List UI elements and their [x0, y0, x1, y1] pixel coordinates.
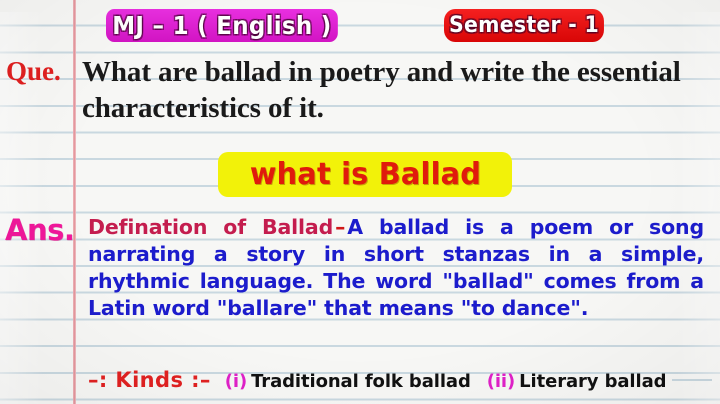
topic-title-text: what is Ballad — [249, 157, 480, 192]
answer-body: Defination of Ballad–A ballad is a poem … — [88, 214, 704, 322]
question-label: Que. — [6, 58, 61, 85]
answer-label: Ans. — [5, 216, 74, 245]
kinds-label: –: Kinds :– — [88, 368, 211, 392]
answer-term: Defination of Ballad — [88, 215, 333, 239]
topic-title-highlight: what is Ballad — [218, 152, 512, 197]
kinds-row: –: Kinds :– (i)Traditional folk ballad (… — [88, 368, 712, 392]
notebook-page: MJ – 1 ( English ) Semester - 1 Que. Wha… — [0, 0, 720, 404]
subject-badge-label: MJ – 1 ( English ) — [112, 11, 331, 40]
list-item: (ii)Literary ballad — [487, 371, 667, 392]
subject-badge: MJ – 1 ( English ) — [106, 9, 338, 42]
kind-text: Traditional folk ballad — [251, 371, 471, 392]
kind-marker: (i) — [225, 371, 247, 392]
kinds-trailing-rule — [672, 379, 712, 381]
kind-marker: (ii) — [487, 371, 515, 392]
semester-badge-label: Semester - 1 — [449, 13, 599, 38]
kind-text: Literary ballad — [519, 371, 666, 392]
answer-dash: – — [333, 215, 347, 239]
page-content: MJ – 1 ( English ) Semester - 1 Que. Wha… — [0, 0, 720, 404]
list-item: (i)Traditional folk ballad — [225, 371, 471, 392]
semester-badge: Semester - 1 — [444, 9, 604, 42]
question-text: What are ballad in poetry and write the … — [82, 54, 710, 126]
